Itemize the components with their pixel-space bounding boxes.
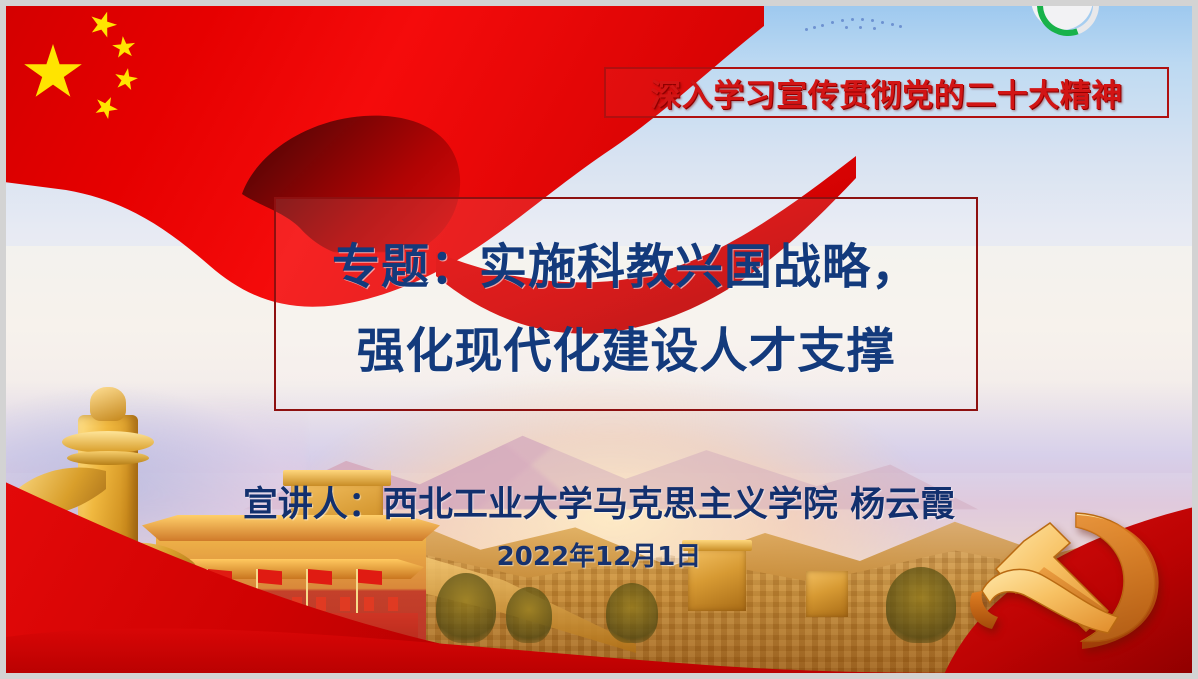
title-line-2: 强化现代化建设人才支撑 [356, 311, 895, 381]
tree-1 [436, 573, 496, 643]
watchtower-3 [806, 571, 848, 617]
tree-2 [506, 587, 552, 643]
title-line-1: 专题：实施科教兴国战略， [332, 227, 920, 297]
date-text: 2022年12月1日 [6, 536, 1192, 573]
presentation-slide: 深入学习宣传贯彻党的二十大精神 专题：实施科教兴国战略， 强化现代化建设人才支撑… [0, 0, 1198, 679]
slide-canvas: 深入学习宣传贯彻党的二十大精神 专题：实施科教兴国战略， 强化现代化建设人才支撑… [6, 6, 1192, 673]
tree-4 [886, 567, 956, 643]
banner-box: 深入学习宣传贯彻党的二十大精神 [604, 67, 1169, 118]
doves-icon [801, 14, 921, 36]
tree-3 [606, 583, 658, 643]
title-box: 专题：实施科教兴国战略， 强化现代化建设人才支撑 [274, 197, 978, 411]
presenter-text: 宣讲人：西北工业大学马克思主义学院 杨云霞 [6, 476, 1192, 527]
banner-text: 深入学习宣传贯彻党的二十大精神 [650, 70, 1123, 115]
